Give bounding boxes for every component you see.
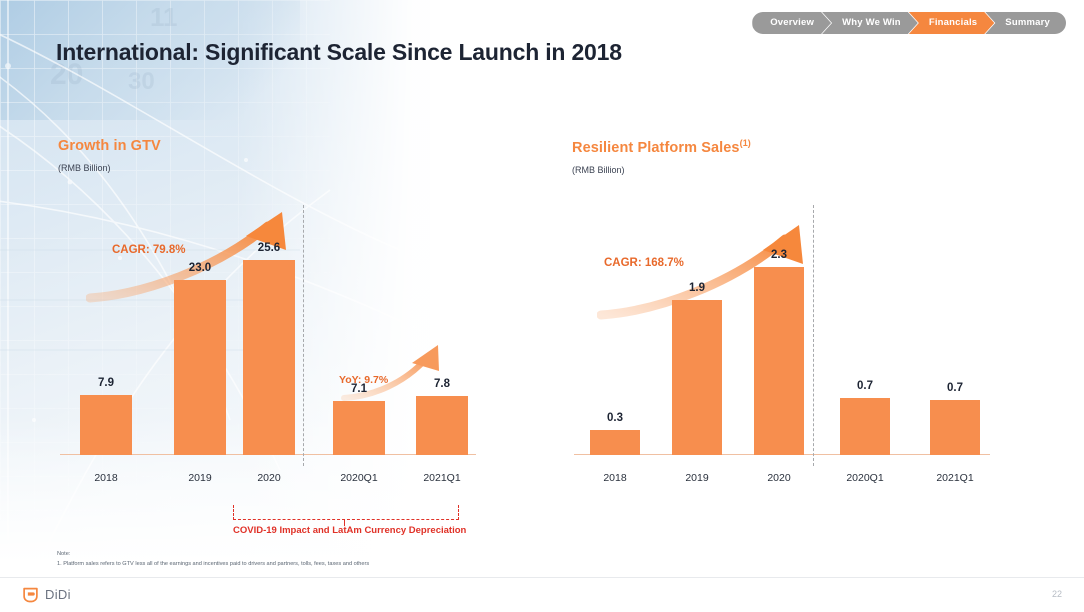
brand-name: DiDi bbox=[45, 587, 71, 602]
x-label-2020: 2020 bbox=[745, 472, 813, 484]
x-label-2018: 2018 bbox=[72, 472, 140, 484]
panel-title-right-text: Resilient Platform Sales bbox=[572, 140, 740, 156]
bar-value-2018: 0.3 bbox=[590, 412, 640, 424]
nav-tab-why-we-win[interactable]: Why We Win bbox=[822, 12, 918, 34]
nav-tab-financials[interactable]: Financials bbox=[909, 12, 994, 34]
bar-value-2020q1: 0.7 bbox=[840, 380, 890, 392]
nav-tab-overview[interactable]: Overview bbox=[752, 12, 831, 34]
bar-2021q1[interactable] bbox=[416, 396, 468, 455]
panel-title-left: Growth in GTV bbox=[58, 138, 488, 154]
nav-tab-label: Financials bbox=[929, 17, 977, 28]
panel-subtitle-left: (RMB Billion) bbox=[58, 163, 488, 173]
bar-2020q1[interactable] bbox=[840, 398, 890, 455]
bar-value-2020: 25.6 bbox=[243, 242, 295, 254]
bar-2021q1[interactable] bbox=[930, 400, 980, 455]
nav-tab-summary[interactable]: Summary bbox=[985, 12, 1066, 34]
panel-subtitle-right: (RMB Billion) bbox=[572, 165, 1002, 175]
bar-value-2021q1: 7.8 bbox=[416, 378, 468, 390]
footnote: Note: 1. Platform sales refers to GTV le… bbox=[57, 550, 369, 569]
bar-2020[interactable] bbox=[243, 260, 295, 455]
bar-value-2018: 7.9 bbox=[80, 377, 132, 389]
chart-growth-in-gtv: CAGR: 79.8% YoY: 9.7% 7.9 23.0 25.6 7.1 … bbox=[58, 205, 476, 510]
didi-logo-icon bbox=[22, 586, 39, 603]
footnote-line-1: 1. Platform sales refers to GTV less all… bbox=[57, 561, 369, 567]
bar-2019[interactable] bbox=[174, 280, 226, 455]
x-label-2018: 2018 bbox=[581, 472, 649, 484]
bar-value-2020q1: 7.1 bbox=[333, 383, 385, 395]
panel-title-left-text: Growth in GTV bbox=[58, 138, 161, 154]
bar-value-2019: 1.9 bbox=[672, 282, 722, 294]
nav-tab-label: Overview bbox=[770, 17, 814, 28]
covid-callout-bracket bbox=[233, 505, 459, 520]
bar-value-2019: 23.0 bbox=[174, 262, 226, 274]
footnote-heading: Note: bbox=[57, 550, 369, 560]
x-label-2020q1: 2020Q1 bbox=[323, 472, 395, 484]
x-label-2019: 2019 bbox=[166, 472, 234, 484]
panel-resilient-platform-sales: Resilient Platform Sales(1) (RMB Billion… bbox=[572, 138, 1002, 175]
x-label-2020q1: 2020Q1 bbox=[829, 472, 901, 484]
x-label-2021q1: 2021Q1 bbox=[919, 472, 991, 484]
cagr-label-right: CAGR: 168.7% bbox=[604, 257, 684, 269]
covid-callout-label: COVID-19 Impact and LatAm Currency Depre… bbox=[233, 525, 459, 536]
panel-title-right: Resilient Platform Sales(1) bbox=[572, 138, 1002, 156]
slide-footer: DiDi 22 bbox=[0, 577, 1084, 612]
nav-tab-label: Summary bbox=[1005, 17, 1050, 28]
bar-2020q1[interactable] bbox=[333, 401, 385, 455]
x-label-2019: 2019 bbox=[663, 472, 731, 484]
bar-value-2021q1: 0.7 bbox=[930, 382, 980, 394]
x-label-2020: 2020 bbox=[235, 472, 303, 484]
slide-canvas: 11 20 30 Overview Why We Win Fina bbox=[0, 0, 1084, 612]
chart-period-divider-right bbox=[813, 205, 814, 466]
bar-2018[interactable] bbox=[80, 395, 132, 455]
page-number: 22 bbox=[1052, 589, 1062, 599]
bar-2018[interactable] bbox=[590, 430, 640, 455]
nav-tab-label: Why We Win bbox=[842, 17, 901, 28]
chart-period-divider-left bbox=[303, 205, 304, 466]
page-title: International: Significant Scale Since L… bbox=[56, 39, 622, 66]
panel-growth-in-gtv: Growth in GTV (RMB Billion) bbox=[58, 138, 488, 173]
panel-title-right-superscript: (1) bbox=[740, 138, 751, 148]
x-label-2021q1: 2021Q1 bbox=[406, 472, 478, 484]
bar-2020[interactable] bbox=[754, 267, 804, 455]
section-nav: Overview Why We Win Financials Summary bbox=[752, 12, 1066, 34]
bar-2019[interactable] bbox=[672, 300, 722, 455]
chart-resilient-platform-sales: CAGR: 168.7% 0.3 1.9 2.3 0.7 0.7 2018 20… bbox=[572, 205, 990, 510]
bar-value-2020: 2.3 bbox=[754, 249, 804, 261]
cagr-label-left: CAGR: 79.8% bbox=[112, 244, 186, 256]
brand-logo: DiDi bbox=[22, 586, 71, 603]
